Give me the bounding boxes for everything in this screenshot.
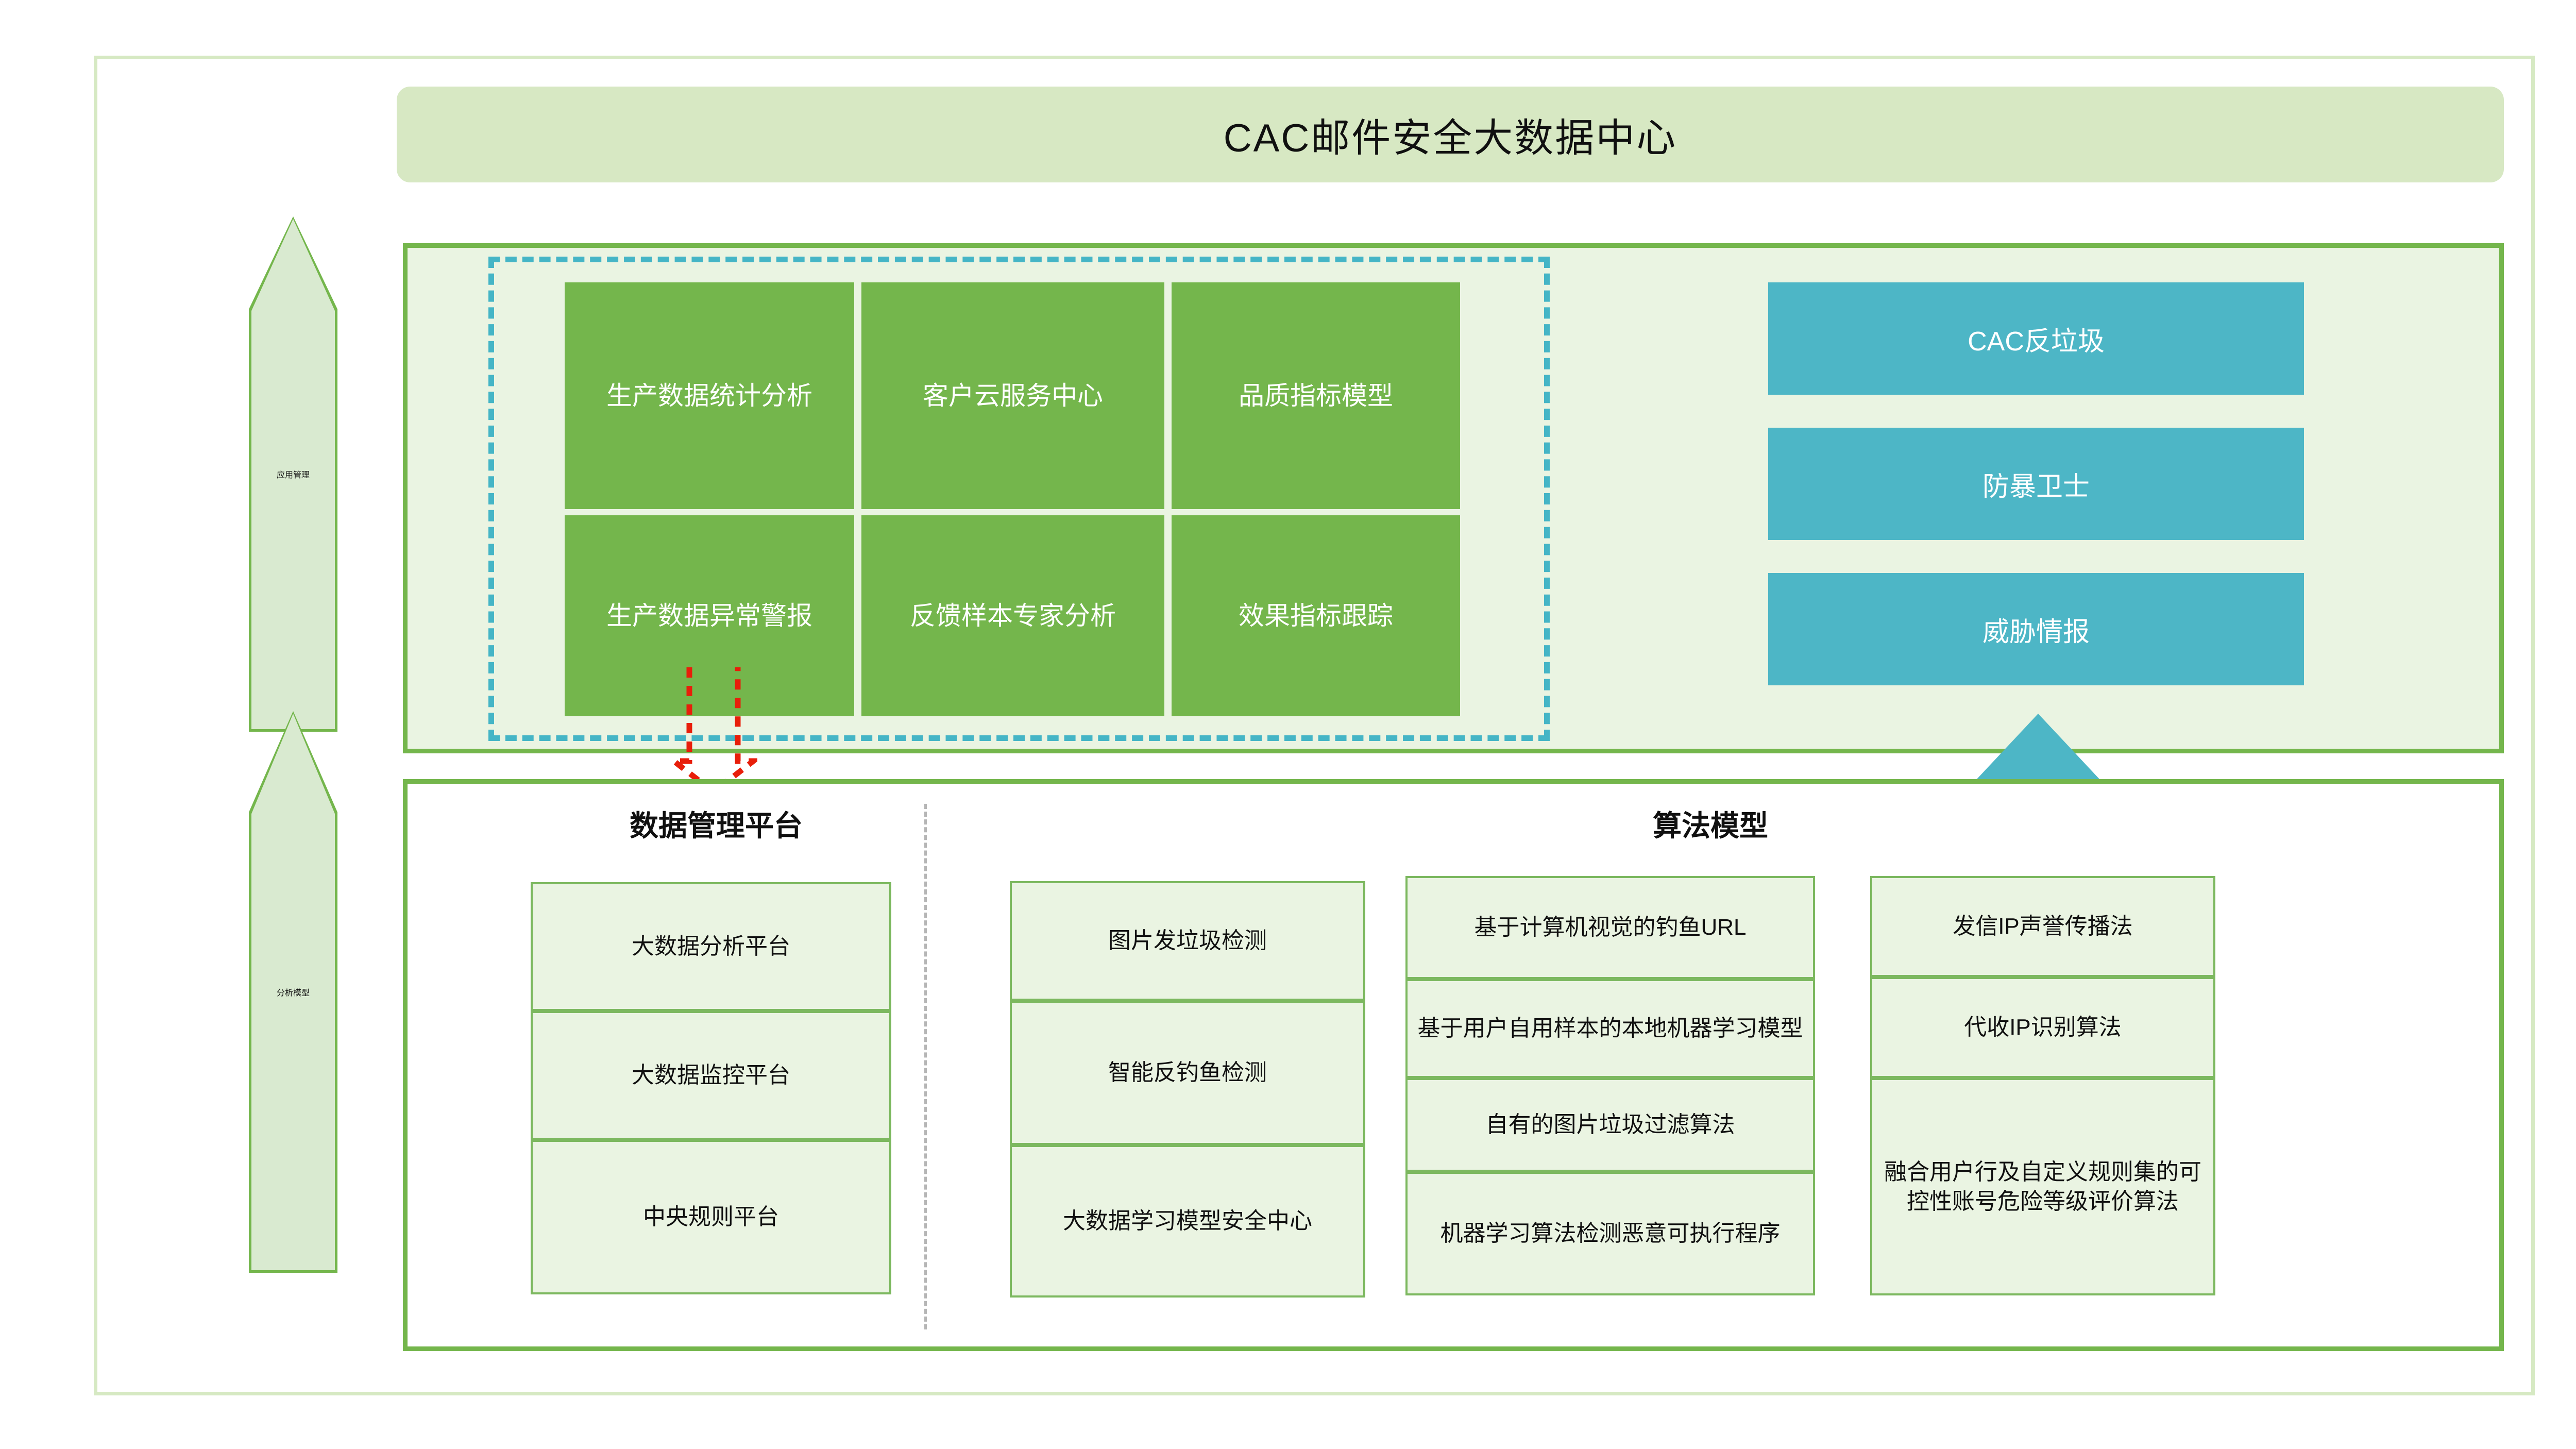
list-item-big-data-learning-model-security-center[interactable]: 大数据学习模型安全中心 — [1010, 1145, 1365, 1298]
list-item-intelligent-antiphishing-detection[interactable]: 智能反钓鱼检测 — [1010, 1001, 1365, 1145]
list-item-label: 基于计算机视觉的钓鱼URL — [1474, 913, 1746, 942]
app-cell-label: 反馈样本专家分析 — [910, 599, 1116, 632]
diagram-title-banner: CAC邮件安全大数据中心 — [397, 87, 2504, 182]
list-item-label: 大数据学习模型安全中心 — [1063, 1206, 1312, 1236]
list-item-cv-phishing-url[interactable]: 基于计算机视觉的钓鱼URL — [1405, 876, 1815, 979]
app-cell-label: 效果指标跟踪 — [1239, 599, 1393, 632]
product-box-threat-intelligence[interactable]: 威胁情报 — [1768, 573, 2304, 685]
column-divider — [924, 804, 927, 1329]
page-title: CAC邮件安全大数据中心 — [1224, 106, 1677, 163]
list-item-label: 发信IP声誉传播法 — [1953, 912, 2133, 941]
list-item-big-data-monitoring-platform[interactable]: 大数据监控平台 — [531, 1011, 891, 1140]
section-heading-algorithm-model: 算法模型 — [948, 803, 2473, 845]
app-cell-production-data-statistics[interactable]: 生产数据统计分析 — [565, 282, 854, 509]
red-dashed-down-arrow-icon — [670, 667, 757, 794]
list-item-label: 自有的图片垃圾过滤算法 — [1486, 1110, 1735, 1139]
list-item-label: 机器学习算法检测恶意可执行程序 — [1440, 1219, 1781, 1248]
product-box-label: 防暴卫士 — [1982, 465, 2090, 503]
app-cell-quality-index-model[interactable]: 品质指标模型 — [1172, 282, 1460, 509]
product-box-cac-antispam[interactable]: CAC反垃圾 — [1768, 282, 2304, 395]
app-cell-effect-index-tracking[interactable]: 效果指标跟踪 — [1172, 515, 1460, 716]
list-item-label: 智能反钓鱼检测 — [1108, 1058, 1267, 1087]
sidebar-item-application-management-inner: 应用管理 — [251, 219, 335, 729]
list-item-label: 基于用户自用样本的本地机器学习模型 — [1418, 1014, 1803, 1043]
list-item-label: 融合用户行及自定义规则集的可控性账号危险等级评价算法 — [1880, 1157, 2205, 1216]
app-cell-label: 生产数据异常警报 — [606, 599, 812, 632]
product-box-label: CAC反垃圾 — [1968, 319, 2105, 358]
sidebar-item-analysis-model-inner: 分析模型 — [251, 714, 335, 1270]
sidebar-item-application-management[interactable]: 应用管理 — [249, 216, 337, 732]
list-item-label: 大数据分析平台 — [632, 932, 790, 961]
list-item-sender-ip-reputation-propagation[interactable]: 发信IP声誉传播法 — [1870, 876, 2215, 977]
sidebar-item-label: 分析模型 — [277, 986, 310, 998]
list-item-label: 大数据监控平台 — [632, 1060, 790, 1090]
sidebar-item-label: 应用管理 — [277, 468, 310, 480]
section-heading-data-management-platform: 数据管理平台 — [526, 803, 907, 845]
sidebar-item-analysis-model[interactable]: 分析模型 — [249, 711, 337, 1273]
app-cell-label: 客户云服务中心 — [923, 379, 1103, 412]
app-cell-customer-cloud-service-center[interactable]: 客户云服务中心 — [861, 282, 1164, 509]
list-item-label: 代收IP识别算法 — [1964, 1013, 2122, 1042]
list-item-proxy-ip-identification-algorithm[interactable]: 代收IP识别算法 — [1870, 977, 2215, 1078]
app-cell-label: 生产数据统计分析 — [606, 379, 812, 412]
list-item-label: 图片发垃圾检测 — [1108, 926, 1267, 955]
list-item-ml-malicious-executable-detection[interactable]: 机器学习算法检测恶意可执行程序 — [1405, 1172, 1815, 1295]
list-item-central-rule-platform[interactable]: 中央规则平台 — [531, 1140, 891, 1294]
list-item-big-data-analysis-platform[interactable]: 大数据分析平台 — [531, 882, 891, 1011]
product-box-label: 威胁情报 — [1982, 610, 2090, 649]
list-item-label: 中央规则平台 — [643, 1202, 779, 1232]
list-item-proprietary-image-spam-filter[interactable]: 自有的图片垃圾过滤算法 — [1405, 1078, 1815, 1172]
app-cell-feedback-sample-expert-analysis[interactable]: 反馈样本专家分析 — [861, 515, 1164, 716]
product-box-antiriot-guard[interactable]: 防暴卫士 — [1768, 428, 2304, 540]
list-item-account-risk-grade-evaluation-algorithm[interactable]: 融合用户行及自定义规则集的可控性账号危险等级评价算法 — [1870, 1078, 2215, 1295]
list-item-image-spam-detection[interactable]: 图片发垃圾检测 — [1010, 881, 1365, 1001]
list-item-local-ml-model-user-samples[interactable]: 基于用户自用样本的本地机器学习模型 — [1405, 979, 1815, 1078]
app-cell-label: 品质指标模型 — [1239, 379, 1393, 412]
